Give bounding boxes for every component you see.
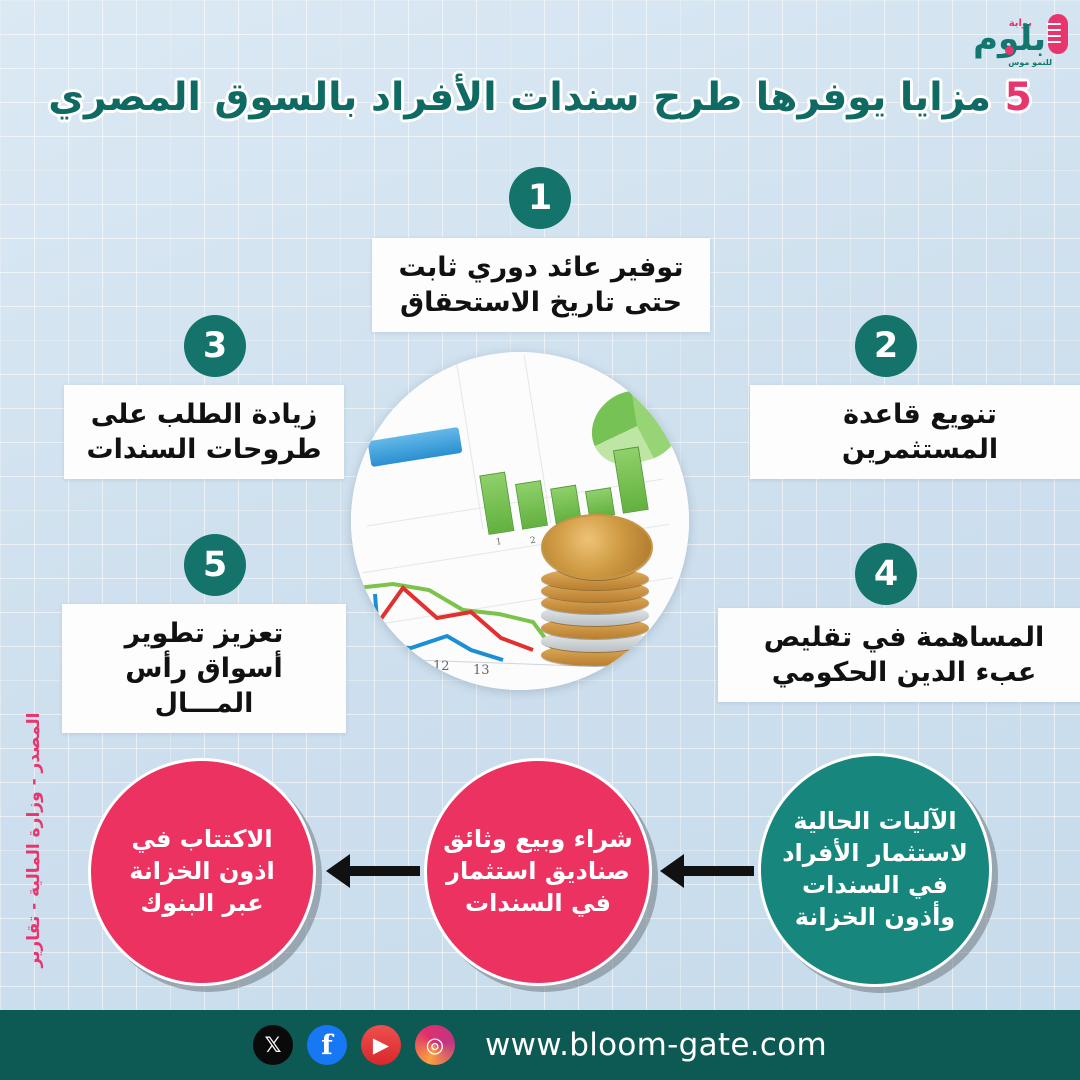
x-icon[interactable]: 𝕏	[253, 1025, 293, 1065]
site-logo[interactable]: بوابة بلوم للنمو موس	[950, 6, 1072, 72]
benefit-badge-3: 3	[184, 315, 246, 377]
facebook-icon[interactable]: f	[307, 1025, 347, 1065]
footer-bar: 𝕏 f ▶ ◎ www.bloom-gate.com	[0, 1010, 1080, 1080]
flow-arrow-left	[348, 866, 420, 876]
benefit-label-3: زيادة الطلب على طروحات السندات	[64, 385, 344, 479]
logo-tagline: للنمو موس	[1008, 58, 1052, 67]
logo-dot-icon	[1005, 46, 1014, 55]
coin-stack	[541, 516, 651, 666]
benefit-badge-1: 1	[509, 167, 571, 229]
benefit-label-2: تنويع قاعدة المستثمرين	[750, 385, 1080, 479]
photo-axis-label: 12	[433, 659, 450, 674]
photo-axis-label: 11	[395, 655, 412, 670]
benefit-badge-5: 5	[184, 534, 246, 596]
benefit-label-5: تعزيز تطوير أسواق رأس المـــال	[62, 604, 346, 733]
benefit-label-1: توفير عائد دوري ثابت حتى تاريخ الاستحقاق	[372, 238, 710, 332]
flow-circle-funds: شراء وبيع وثائق صناديق استثمار في السندا…	[424, 758, 652, 986]
source-note: المصدر - وزارة المالية - تقارير	[24, 710, 44, 970]
flow-circle-current-mechanisms: الآليات الحالية لاستثمار الأفراد في السن…	[758, 753, 992, 987]
microphone-icon	[1048, 14, 1068, 54]
flow-arrow-right	[682, 866, 754, 876]
benefit-badge-4: 4	[855, 543, 917, 605]
instagram-icon[interactable]: ◎	[415, 1025, 455, 1065]
infographic-canvas: بوابة بلوم للنمو موس 5 مزايا يوفرها طرح …	[0, 0, 1080, 1080]
benefit-label-4: المساهمة في تقليص عبء الدين الحكومي	[718, 608, 1080, 702]
benefit-badge-2: 2	[855, 315, 917, 377]
finance-photo: 1 2 3 4 11 12 13	[351, 352, 689, 690]
title-text: مزايا يوفرها طرح سندات الأفراد بالسوق ال…	[48, 75, 991, 120]
photo-axis-label: 13	[473, 663, 490, 678]
website-url[interactable]: www.bloom-gate.com	[485, 1027, 827, 1063]
flow-circle-treasury-bills: الاكتتاب في اذون الخزانة عبر البنوك	[88, 758, 316, 986]
page-title: 5 مزايا يوفرها طرح سندات الأفراد بالسوق …	[0, 74, 1080, 122]
youtube-icon[interactable]: ▶	[361, 1025, 401, 1065]
title-count: 5	[1005, 75, 1032, 120]
